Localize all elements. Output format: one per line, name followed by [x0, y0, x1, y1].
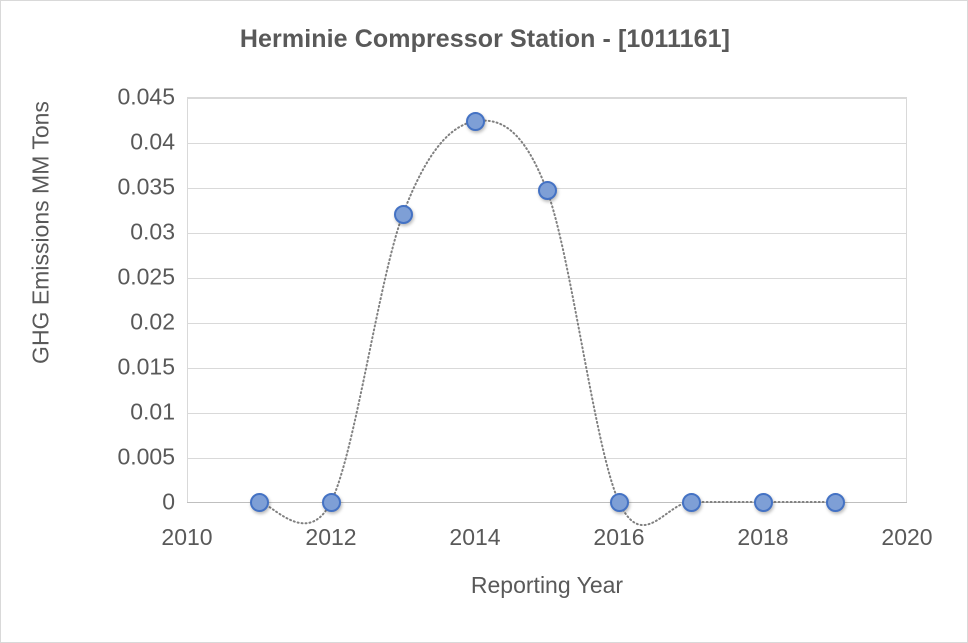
x-axis-tick-label: 2016 [549, 524, 689, 551]
data-point-marker[interactable] [466, 112, 485, 131]
x-axis-tick-label: 2014 [405, 524, 545, 551]
data-point-marker[interactable] [826, 493, 845, 512]
data-point-marker[interactable] [394, 205, 413, 224]
y-axis-title: GHG Emissions MM Tons [28, 83, 55, 383]
y-axis-tick-label: 0.025 [55, 264, 175, 291]
gridline-y [188, 143, 906, 144]
data-point-marker[interactable] [610, 493, 629, 512]
plot-area [187, 97, 907, 502]
data-point-marker[interactable] [538, 181, 557, 200]
data-point-marker[interactable] [322, 493, 341, 512]
y-axis-tick-label: 0.01 [55, 399, 175, 426]
y-axis-tick-label: 0.035 [55, 174, 175, 201]
x-axis-line [187, 502, 907, 503]
data-point-marker[interactable] [682, 493, 701, 512]
y-axis-tick-label: 0 [55, 489, 175, 516]
y-axis-tick-label: 0.015 [55, 354, 175, 381]
gridline-y [188, 368, 906, 369]
y-axis-tick-label: 0.04 [55, 129, 175, 156]
gridline-y [188, 413, 906, 414]
gridline-y [188, 278, 906, 279]
y-axis-tick-label: 0.02 [55, 309, 175, 336]
gridline-y [188, 233, 906, 234]
y-axis-tick-label: 0.045 [55, 84, 175, 111]
x-axis-tick-label: 2018 [693, 524, 833, 551]
y-axis-tick-label: 0.005 [55, 444, 175, 471]
x-axis-tick-label: 2020 [837, 524, 968, 551]
data-point-marker[interactable] [754, 493, 773, 512]
y-axis-tick-label: 0.03 [55, 219, 175, 246]
x-axis-title: Reporting Year [187, 572, 907, 599]
x-axis-tick-label: 2012 [261, 524, 401, 551]
gridline-y [188, 98, 906, 99]
gridline-y [188, 323, 906, 324]
x-axis-tick-label: 2010 [117, 524, 257, 551]
gridline-y [188, 458, 906, 459]
data-point-marker[interactable] [250, 493, 269, 512]
chart-container: Herminie Compressor Station - [1011161] … [0, 0, 968, 643]
